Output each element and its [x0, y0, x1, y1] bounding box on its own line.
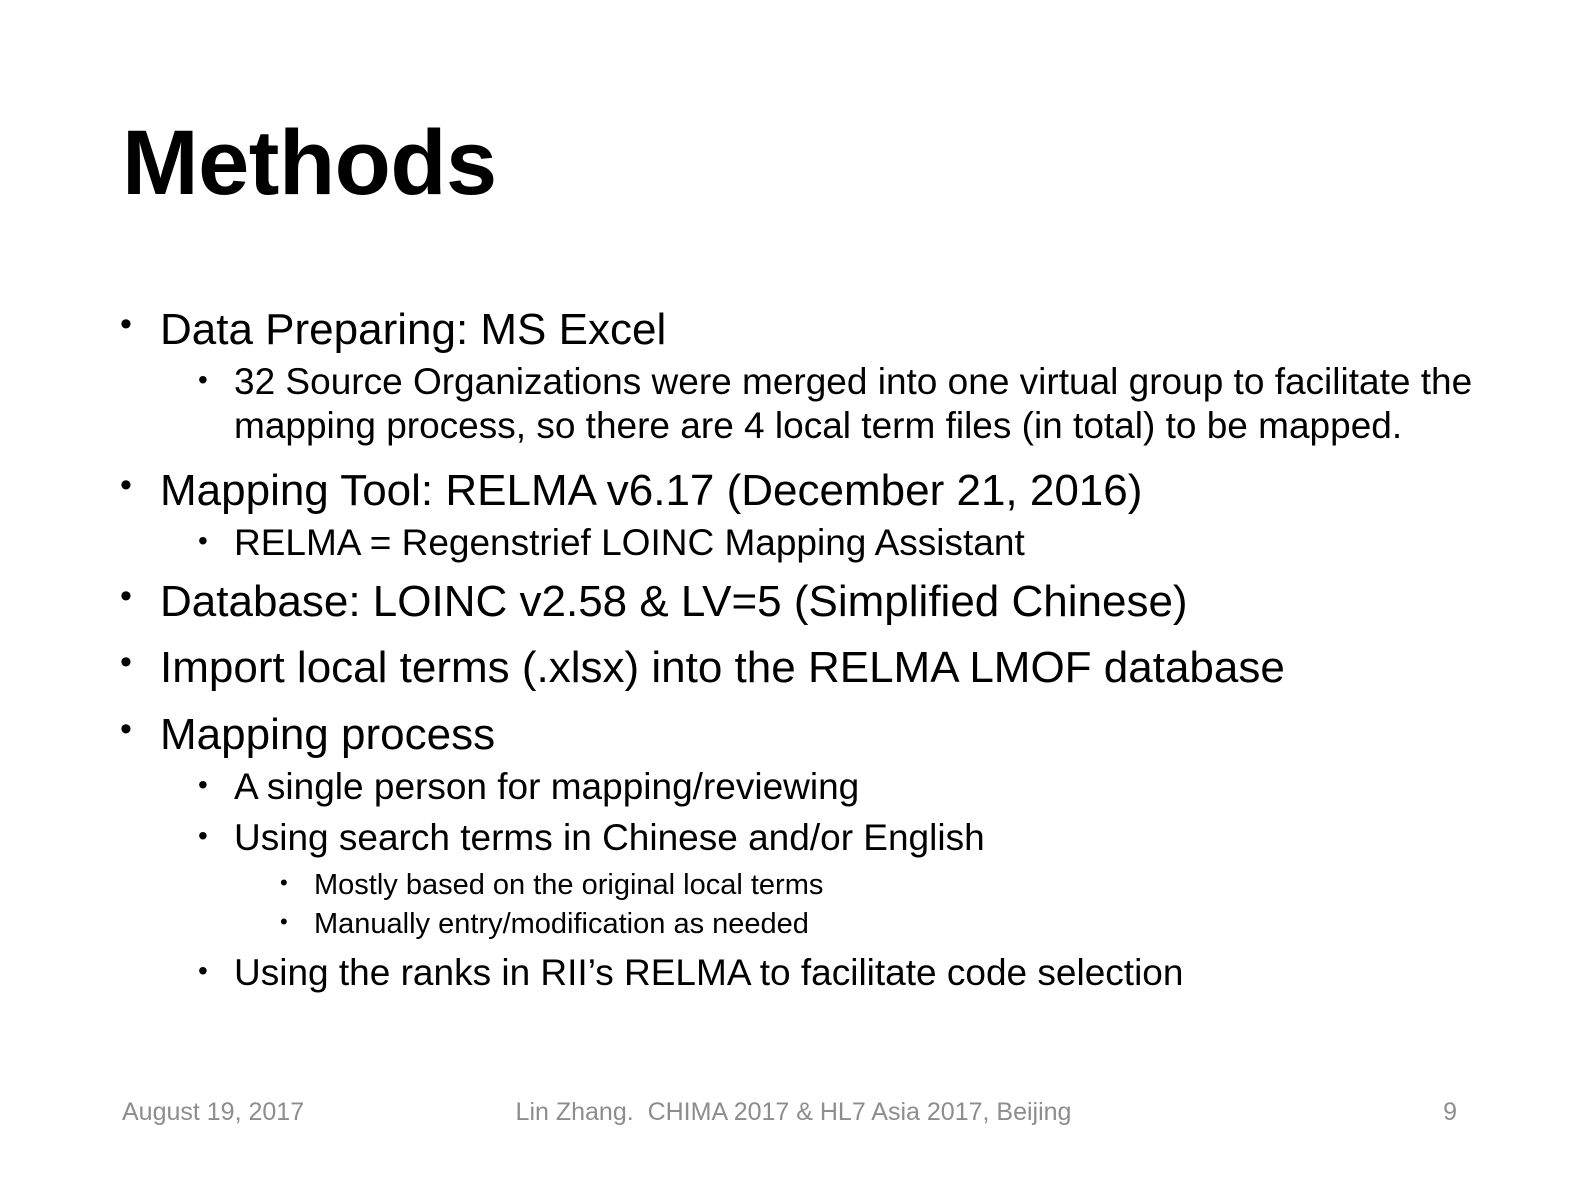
list-item: • Using search terms in Chinese and/or E… — [198, 816, 1480, 860]
list-item: • Import local terms (.xlsx) into the RE… — [120, 638, 1480, 697]
list-item: • Mostly based on the original local ter… — [280, 866, 1480, 905]
bullet-point-icon: • — [198, 360, 234, 396]
bullet-point-icon: • — [280, 905, 314, 937]
list-item-label: 32 Source Organizations were merged into… — [234, 360, 1480, 447]
list-item-label: Mapping process — [160, 705, 1480, 764]
list-item: • A single person for mapping/reviewing — [198, 765, 1480, 809]
slide-body-list: • Data Preparing: MS Excel • 32 Source O… — [120, 300, 1480, 995]
slide-page-number: 9 — [1443, 1098, 1457, 1127]
list-item: • RELMA = Regenstrief LOINC Mapping Assi… — [198, 521, 1480, 565]
list-item: • Data Preparing: MS Excel — [120, 300, 1480, 359]
slide: Methods • Data Preparing: MS Excel • 32 … — [0, 0, 1587, 1190]
list-item-label: Database: LOINC v2.58 & LV=5 (Simplified… — [160, 572, 1480, 631]
list-item-label: Mapping Tool: RELMA v6.17 (December 21, … — [160, 461, 1480, 520]
bullet-point-icon: • — [120, 572, 160, 620]
list-item-label: Data Preparing: MS Excel — [160, 300, 1480, 359]
list-item-label: Using search terms in Chinese and/or Eng… — [234, 816, 1480, 860]
bullet-point-icon: • — [198, 521, 234, 557]
spacer — [120, 449, 1480, 461]
page-title: Methods — [122, 117, 497, 209]
list-item-label: Using the ranks in RII’s RELMA to facili… — [234, 951, 1480, 995]
list-item: • Manually entry/modification as needed — [280, 905, 1480, 944]
list-item-label: A single person for mapping/reviewing — [234, 765, 1480, 809]
list-item-label: RELMA = Regenstrief LOINC Mapping Assist… — [234, 521, 1480, 565]
list-item: • Mapping process — [120, 705, 1480, 764]
bullet-point-icon: • — [120, 300, 160, 348]
list-item: • 32 Source Organizations were merged in… — [198, 360, 1480, 447]
slide-footer: August 19, 2017 Lin Zhang. CHIMA 2017 & … — [0, 1098, 1587, 1138]
list-item-label: Import local terms (.xlsx) into the RELM… — [160, 638, 1480, 697]
bullet-point-icon: • — [120, 461, 160, 509]
list-item: • Using the ranks in RII’s RELMA to faci… — [198, 951, 1480, 995]
bullet-point-icon: • — [120, 705, 160, 753]
bullet-point-icon: • — [280, 866, 314, 898]
bullet-point-icon: • — [198, 951, 234, 987]
list-item: • Mapping Tool: RELMA v6.17 (December 21… — [120, 461, 1480, 520]
bullet-point-icon: • — [120, 638, 160, 686]
list-item-label: Manually entry/modification as needed — [314, 905, 1480, 944]
list-item-label: Mostly based on the original local terms — [314, 866, 1480, 905]
bullet-point-icon: • — [198, 765, 234, 801]
footer-attribution: Lin Zhang. CHIMA 2017 & HL7 Asia 2017, B… — [0, 1098, 1587, 1127]
list-item: • Database: LOINC v2.58 & LV=5 (Simplifi… — [120, 572, 1480, 631]
bullet-point-icon: • — [198, 816, 234, 852]
